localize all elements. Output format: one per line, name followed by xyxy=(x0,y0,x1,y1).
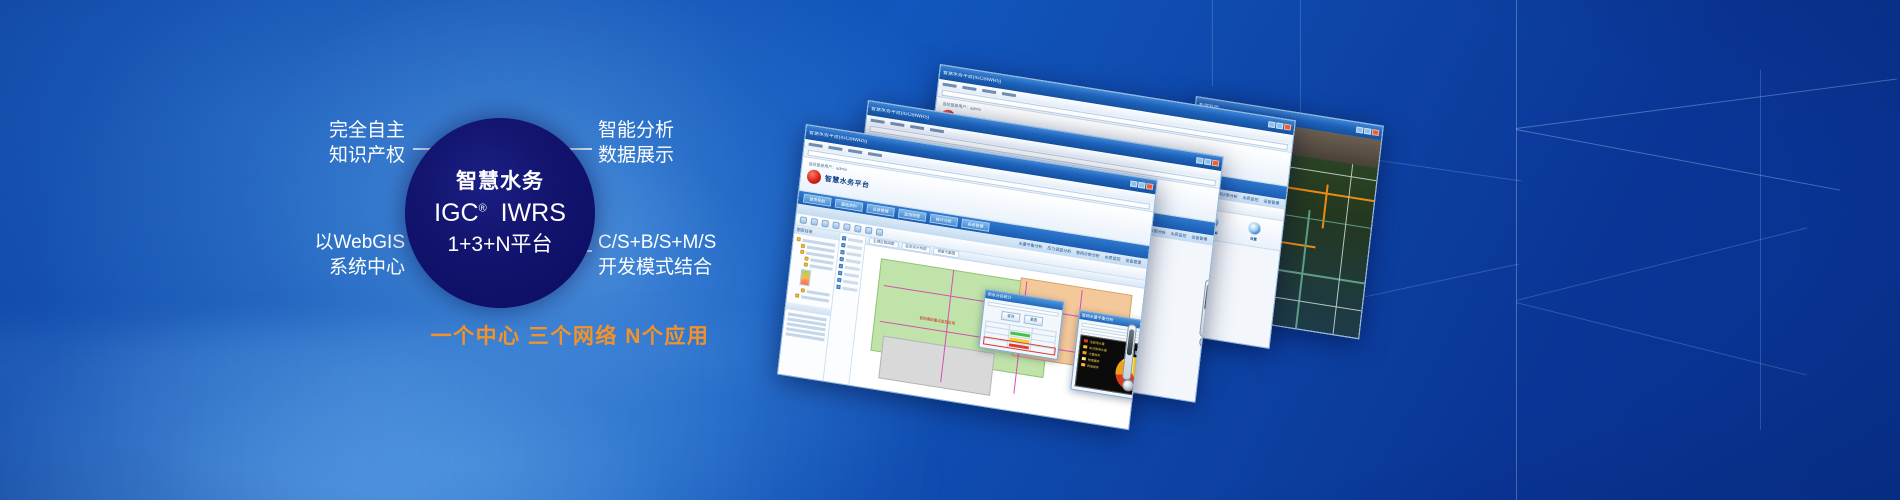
toolbox-item xyxy=(838,271,859,278)
label-bottom-left-line1: 以WebGIS xyxy=(230,230,405,255)
label-top-right-line2: 数据展示 xyxy=(598,143,768,168)
layer-icon xyxy=(804,256,808,261)
layer-icon xyxy=(804,262,808,267)
tool-icon xyxy=(839,257,843,262)
hub-line2: IGC® IWRS xyxy=(434,201,566,226)
tool-icon xyxy=(838,271,842,276)
tool-icon xyxy=(839,264,843,269)
minimize-icon xyxy=(1356,126,1364,133)
subnav-item[interactable]: 水质监控 xyxy=(1170,231,1187,239)
minimize-icon xyxy=(1196,157,1204,164)
close-icon xyxy=(1284,124,1292,131)
folder-icon xyxy=(795,293,799,298)
toolbox-item xyxy=(839,264,860,271)
tool-icon xyxy=(865,227,873,235)
close-icon xyxy=(1372,129,1380,136)
folder-icon xyxy=(797,237,801,242)
hub-igc-text: IGC xyxy=(434,199,478,227)
window-front-wrap[interactable]: 智慧水务平台(IGC®IWRS) 当前登录用户：admin 智慧水务平台 首页导… xyxy=(777,124,1158,430)
hub-line3: 1+3+N平台 xyxy=(447,234,552,255)
maximize-icon xyxy=(1204,158,1212,165)
toolbox-item xyxy=(839,257,860,264)
label-bottom-right-line1: C/S+B/S+M/S xyxy=(598,230,798,255)
maximize-icon xyxy=(1364,128,1372,135)
folder-icon xyxy=(800,250,804,255)
hub-registered-icon: ® xyxy=(479,203,487,215)
label-top-right: 智能分析 数据展示 xyxy=(598,118,768,169)
banner-root: 完全自主 知识产权 智能分析 数据展示 以WebGIS 系统中心 C/S+B/S… xyxy=(0,0,1900,500)
subnav-item[interactable]: 水质监控 xyxy=(1104,254,1121,262)
close-icon xyxy=(1146,183,1154,190)
bigtool-button[interactable]: 设置 xyxy=(1247,221,1262,242)
hub-circle: 智慧水务 IGC® IWRS 1+3+N平台 xyxy=(405,118,595,308)
query-button[interactable]: 查询 xyxy=(1001,311,1021,323)
subnav-item[interactable]: 设备管理 xyxy=(1125,258,1142,266)
hub-iwrs-text: IWRS xyxy=(501,199,566,227)
toolbox-item xyxy=(836,285,857,292)
toolbox-item xyxy=(842,236,863,243)
tool-icon xyxy=(810,218,818,226)
hub-line1: 智慧水务 xyxy=(456,171,544,192)
tool-icon xyxy=(876,228,884,236)
tool-icon xyxy=(837,278,841,283)
folder-icon xyxy=(801,244,805,249)
tool-icon xyxy=(800,216,808,224)
layer-icon xyxy=(801,288,805,293)
minimize-icon xyxy=(1268,121,1276,128)
slider-handle[interactable] xyxy=(1127,329,1135,356)
water-drop-icon xyxy=(806,169,821,185)
tool-icon xyxy=(841,243,845,248)
window-back-controls[interactable] xyxy=(1268,121,1291,131)
minimize-icon xyxy=(1130,180,1138,187)
maximize-icon xyxy=(1138,182,1146,189)
toolbox-item xyxy=(837,278,858,285)
zone-stats-dialog[interactable]: 供水分区统计 查询 重置 xyxy=(979,289,1065,360)
subnav-item[interactable]: 设备管理 xyxy=(1263,198,1280,206)
label-top-left: 完全自主 知识产权 xyxy=(245,118,405,169)
subnav-item[interactable]: 水质监控 xyxy=(1242,195,1259,203)
window-front-controls[interactable] xyxy=(1130,180,1153,190)
pie-legend: 注册用水量 未注册用水量 计量损失 物理漏失 其他损失 xyxy=(1081,339,1108,371)
label-bottom-right: C/S+B/S+M/S 开发模式结合 xyxy=(598,230,798,281)
window-front-brand: 智慧水务平台 xyxy=(824,174,870,191)
tool-icon xyxy=(842,236,846,241)
label-top-left-line2: 知识产权 xyxy=(245,143,405,168)
tool-icon xyxy=(843,223,851,231)
legend-gradient-swatch xyxy=(799,269,811,286)
gear-icon xyxy=(1247,221,1261,236)
toolbox-item xyxy=(841,243,862,250)
label-bottom-right-line2: 开发模式结合 xyxy=(598,255,798,280)
tool-icon xyxy=(854,225,862,233)
window-middle-controls[interactable] xyxy=(1196,157,1219,167)
tool-icon xyxy=(832,221,840,229)
tool-icon xyxy=(821,220,829,228)
label-bottom-left: 以WebGIS 系统中心 xyxy=(230,230,405,281)
tool-icon xyxy=(836,285,840,290)
close-icon xyxy=(1212,160,1220,167)
label-bottom-left-line2: 系统中心 xyxy=(230,255,405,280)
toolbox-item xyxy=(840,250,861,257)
tagline: 一个中心 三个网络 N个应用 xyxy=(360,320,780,350)
label-top-left-line1: 完全自主 xyxy=(245,118,405,143)
subnav-item[interactable]: 设备管理 xyxy=(1191,234,1208,242)
reset-button[interactable]: 重置 xyxy=(1024,314,1044,326)
window-map-controls[interactable] xyxy=(1356,126,1379,136)
label-top-right-line1: 智能分析 xyxy=(598,118,768,143)
maximize-icon xyxy=(1276,122,1284,129)
tool-icon xyxy=(840,250,844,255)
